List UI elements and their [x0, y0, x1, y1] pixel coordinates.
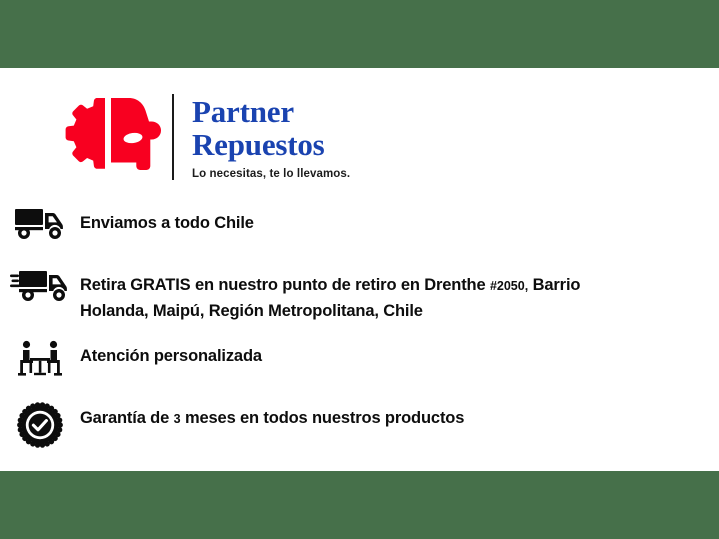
brand-wordmark: Partner Repuestos Lo necesitas, te lo ll…	[192, 95, 350, 180]
gear-car-icon	[56, 94, 166, 180]
feature-list: Enviamos a todo Chile	[0, 205, 719, 462]
feature-text-part-1: Garantía de	[80, 409, 174, 427]
feature-text-part-1: Retira GRATIS en nuestro punto de retiro…	[80, 276, 490, 294]
brand-logo-lockup: Partner Repuestos Lo necesitas, te lo ll…	[56, 94, 350, 180]
feature-text: Garantía de 3 meses en todos nuestros pr…	[80, 400, 464, 432]
moving-truck-icon	[10, 269, 70, 302]
brand-name-line-2: Repuestos	[192, 128, 350, 161]
feature-text: Atención personalizada	[80, 338, 262, 369]
brand-tagline: Lo necesitas, te lo llevamos.	[192, 168, 350, 180]
feature-text: Enviamos a todo Chile	[80, 205, 254, 236]
feature-text: Retira GRATIS en nuestro punto de retiro…	[80, 267, 640, 324]
bottom-green-band	[0, 471, 719, 539]
feature-row: Garantía de 3 meses en todos nuestros pr…	[0, 400, 719, 448]
feature-icon-slot	[0, 205, 80, 240]
banner-content: Partner Repuestos Lo necesitas, te lo ll…	[0, 68, 719, 471]
feature-row: Retira GRATIS en nuestro punto de retiro…	[0, 267, 719, 324]
meeting-table-icon	[17, 340, 63, 378]
delivery-truck-icon	[14, 207, 66, 240]
feature-icon-slot	[0, 267, 80, 302]
promo-banner: Partner Repuestos Lo necesitas, te lo ll…	[0, 0, 719, 539]
feature-text-number: 3	[174, 412, 181, 426]
logo-divider	[172, 94, 174, 180]
feature-row: Enviamos a todo Chile	[0, 205, 719, 253]
guarantee-badge-check-icon	[17, 402, 63, 448]
feature-icon-slot	[0, 338, 80, 378]
feature-icon-slot	[0, 400, 80, 448]
feature-text-number: #2050,	[490, 279, 528, 293]
feature-row: Atención personalizada	[0, 338, 719, 386]
top-green-band	[0, 0, 719, 68]
brand-name-line-1: Partner	[192, 95, 350, 128]
feature-text-part-2: meses en todos nuestros productos	[181, 409, 465, 427]
